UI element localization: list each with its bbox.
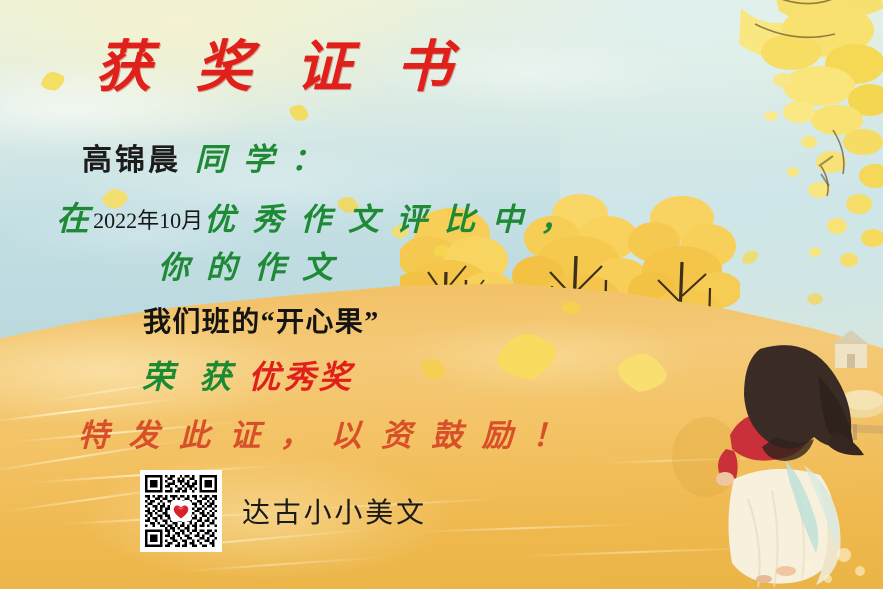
contest-name: 优 秀 作 文 评 比 中 ， — [204, 202, 574, 238]
qr-code-icon[interactable] — [140, 470, 222, 552]
award-row: 荣 获优秀奖 — [142, 352, 354, 398]
ginkgo-leaf-large — [494, 332, 560, 387]
girl-svg — [668, 339, 883, 589]
issuer-name: 达古小小美文 — [242, 491, 427, 531]
heart-icon — [171, 501, 192, 522]
ginkgo-leaf — [288, 104, 310, 127]
ginkgo-leaf — [740, 250, 760, 270]
running-girl-illustration — [668, 339, 883, 589]
work-title: 我们班的“开心果” — [143, 300, 380, 340]
contest-date: 2022年10月 — [93, 208, 203, 233]
ginkgo-leaf — [418, 358, 448, 385]
ginkgo-leaf-large — [614, 352, 670, 399]
certificate-title: 获 奖 证 书 — [0, 22, 560, 103]
work-label: 你 的 作 文 — [158, 242, 336, 287]
issuer-block: 达古小小美文 — [140, 470, 427, 552]
award-verb: 荣 获 — [142, 358, 238, 396]
ginkgo-leaf — [560, 300, 582, 321]
ginkgo-leaf — [432, 244, 450, 263]
certificate-canvas: 获 奖 证 书 高锦晨同 学 ： 在2022年10月优 秀 作 文 评 比 中 … — [0, 0, 883, 589]
encouragement-line: 特 发 此 证 ， 以 资 鼓 励 ！ — [78, 410, 568, 455]
salutation-row: 高锦晨同 学 ： — [82, 134, 325, 179]
award-name: 优秀奖 — [248, 358, 354, 396]
recipient-honorific: 同 学 ： — [195, 142, 325, 178]
ginkgo-leaf — [806, 292, 824, 311]
contest-prefix: 在 — [56, 199, 92, 238]
contest-line: 在2022年10月优 秀 作 文 评 比 中 ， — [56, 192, 574, 240]
recipient-name: 高锦晨 — [82, 144, 181, 177]
